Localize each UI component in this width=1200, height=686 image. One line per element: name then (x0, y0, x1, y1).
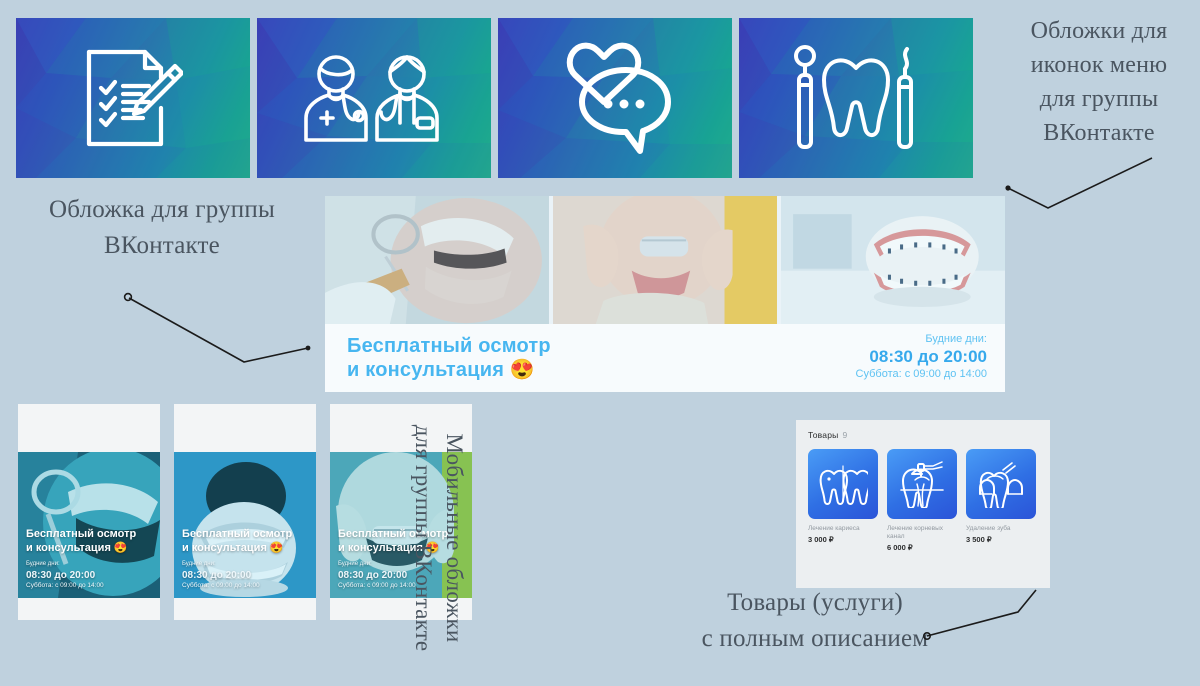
caries-treatment-icon (818, 462, 868, 506)
group-cover-schedule: Будние дни: 08:30 до 20:00 Суббота: с 09… (856, 333, 987, 384)
mobile-schedule-saturday: Суббота: с 09:00 до 14:00 (182, 582, 310, 590)
schedule-saturday: Суббота: с 09:00 до 14:00 (856, 368, 987, 382)
goods-count: 9 (842, 430, 847, 440)
mobile-schedule-label: Будние дни: (182, 561, 310, 569)
good-tile[interactable] (966, 449, 1036, 519)
good-item-extraction[interactable]: Удаление зуба 3 500 ₽ (966, 449, 1036, 552)
group-cover-text-strip: Бесплатный осмотр и консультация 😍 Будни… (325, 324, 1005, 392)
good-name: Лечение кариеса (808, 525, 878, 533)
menu-icon-covers-row (16, 18, 973, 178)
good-item-caries[interactable]: Лечение кариеса 3 000 ₽ (808, 449, 878, 552)
mobile-schedule-label: Будние дни: (26, 561, 154, 569)
mobile-headline-line1: Бесплатный осмотр (182, 528, 310, 542)
photo-aligner-tray (553, 196, 777, 324)
good-item-root-canal[interactable]: Лечение корневых канал 6 000 ₽ (887, 449, 957, 552)
mobile-cover-2[interactable]: Бесплатный осмотр и консультация 😍 Будни… (174, 404, 316, 620)
good-name: Лечение корневых канал (887, 525, 957, 541)
mobile-schedule: Будние дни: 08:30 до 20:00 Суббота: с 09… (182, 561, 310, 590)
mobile-headline-line2: и консультация 😍 (26, 542, 154, 556)
leader-line-group-cover (118, 282, 318, 368)
checklist-pen-icon (16, 18, 250, 178)
annotation-group-cover: Обложка для группы ВКонтакте (2, 192, 322, 263)
poster-canvas: Бесплатный осмотр и консультация 😍 Будни… (0, 0, 1200, 686)
menu-icon-cover-doctors[interactable] (257, 18, 491, 178)
mobile-headline: Бесплатный осмотр и консультация 😍 (182, 528, 310, 556)
mobile-schedule-saturday: Суббота: с 09:00 до 14:00 (26, 582, 154, 590)
mobile-headline-line2: и консультация 😍 (182, 542, 310, 556)
schedule-label: Будние дни: (856, 333, 987, 347)
mobile-cover-2-text: Бесплатный осмотр и консультация 😍 Будни… (182, 528, 310, 590)
group-cover-headline-line1: Бесплатный осмотр (347, 334, 551, 358)
annotation-icons-covers: Обложки для иконок меню для группы ВКонт… (1004, 14, 1194, 150)
goods-grid: Лечение кариеса 3 000 ₽ Лечение корнев (808, 449, 1040, 552)
schedule-time: 08:30 до 20:00 (856, 346, 987, 367)
mobile-schedule-time: 08:30 до 20:00 (182, 569, 310, 582)
group-cover-headline: Бесплатный осмотр и консультация 😍 (347, 334, 551, 383)
good-tile[interactable] (808, 449, 878, 519)
two-doctors-icon (257, 18, 491, 178)
photo-braces-model (781, 196, 1005, 324)
dental-tools-tooth-icon (739, 18, 973, 178)
mobile-covers-row: Бесплатный осмотр и консультация 😍 Будни… (18, 404, 472, 620)
menu-icon-cover-dental-tools[interactable] (739, 18, 973, 178)
group-cover-headline-line2: и консультация 😍 (347, 358, 551, 382)
leader-line-icons (1000, 150, 1160, 210)
annotation-mobile-covers: Мобильные обложки для группы ВКонтакте (408, 418, 470, 658)
group-cover-photos (325, 196, 1005, 324)
mobile-schedule-time: 08:30 до 20:00 (26, 569, 154, 582)
heart-chat-icon (498, 18, 732, 178)
goods-panel-title: Товары9 (808, 430, 1040, 440)
good-price: 3 000 ₽ (808, 535, 878, 544)
annotation-goods: Товары (услуги) с полным описанием (605, 585, 1025, 656)
root-canal-icon (897, 460, 947, 508)
mobile-cover-1-text: Бесплатный осмотр и консультация 😍 Будни… (26, 528, 154, 590)
group-cover-banner[interactable]: Бесплатный осмотр и консультация 😍 Будни… (325, 196, 1005, 392)
mobile-schedule: Будние дни: 08:30 до 20:00 Суббота: с 09… (26, 561, 154, 590)
mobile-headline-line1: Бесплатный осмотр (26, 528, 154, 542)
goods-panel: Товары9 Лечение кариеса 3 000 ₽ (796, 420, 1050, 588)
good-price: 6 000 ₽ (887, 543, 957, 552)
mobile-headline: Бесплатный осмотр и консультация 😍 (26, 528, 154, 556)
menu-icon-cover-chat[interactable] (498, 18, 732, 178)
mobile-cover-1[interactable]: Бесплатный осмотр и консультация 😍 Будни… (18, 404, 160, 620)
good-price: 3 500 ₽ (966, 535, 1036, 544)
good-tile[interactable] (887, 449, 957, 519)
menu-icon-cover-checklist[interactable] (16, 18, 250, 178)
photo-dental-checkup (325, 196, 549, 324)
good-name: Удаление зуба (966, 525, 1036, 533)
goods-title-label: Товары (808, 430, 838, 440)
tooth-extraction-icon (976, 460, 1026, 508)
